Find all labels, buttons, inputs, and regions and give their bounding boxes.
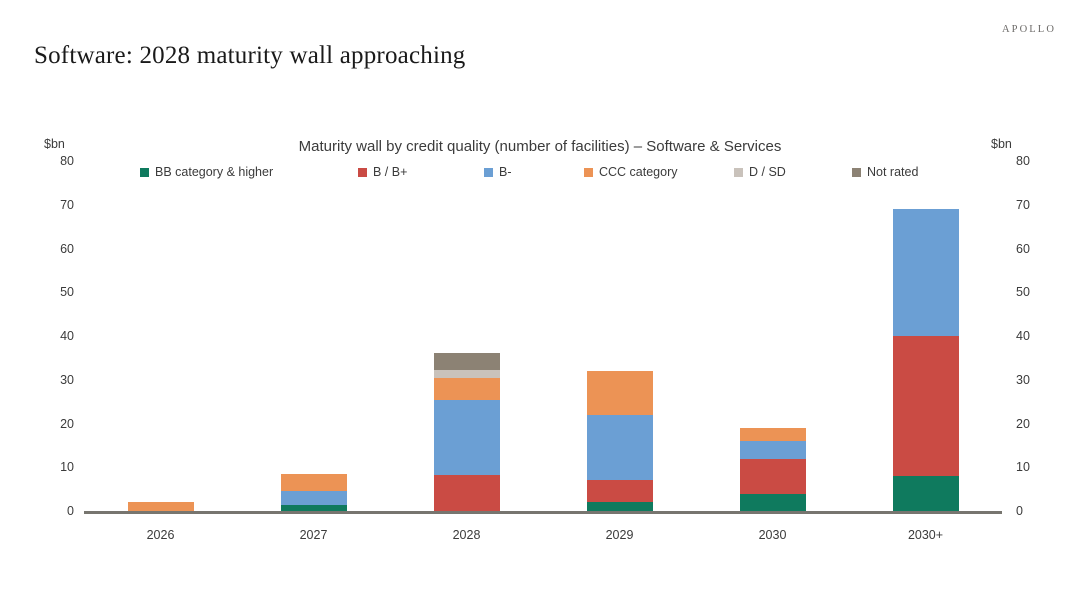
bar-stack	[587, 371, 653, 511]
bar-segment-2029-1[interactable]	[587, 480, 653, 502]
y-tick-left-0: 0	[44, 505, 74, 518]
y-tick-right-70: 70	[1016, 199, 1046, 212]
bar-2026[interactable]	[128, 130, 194, 511]
apollo-logo: APOLLO	[1002, 24, 1056, 35]
bar-segment-2026-3[interactable]	[128, 502, 194, 511]
y-tick-left-30: 30	[44, 374, 74, 387]
bar-segment-2030+-0[interactable]	[893, 476, 959, 511]
bar-stack	[281, 474, 347, 511]
slide: APOLLO Software: 2028 maturity wall appr…	[0, 0, 1080, 607]
y-tick-right-80: 80	[1016, 155, 1046, 168]
bar-segment-2030+-2[interactable]	[893, 209, 959, 336]
y-tick-right-0: 0	[1016, 505, 1046, 518]
y-tick-left-10: 10	[44, 461, 74, 474]
x-tick-2030: 2030	[713, 528, 833, 542]
y-tick-left-40: 40	[44, 330, 74, 343]
x-tick-2027: 2027	[254, 528, 374, 542]
bar-stack	[740, 428, 806, 511]
y-tick-left-20: 20	[44, 417, 74, 430]
bar-segment-2027-2[interactable]	[281, 491, 347, 505]
bar-series-container: 202620272028202920302030+	[84, 130, 1002, 560]
bar-segment-2030-0[interactable]	[740, 494, 806, 512]
bar-segment-2028-3[interactable]	[434, 378, 500, 400]
y-tick-right-10: 10	[1016, 461, 1046, 474]
y-tick-left-50: 50	[44, 286, 74, 299]
bar-segment-2030+-1[interactable]	[893, 336, 959, 476]
y-tick-right-20: 20	[1016, 417, 1046, 430]
bar-segment-2030-2[interactable]	[740, 441, 806, 459]
bar-2030[interactable]	[740, 130, 806, 511]
bar-segment-2028-2[interactable]	[434, 400, 500, 474]
page-title: Software: 2028 maturity wall approaching	[34, 42, 466, 70]
bar-segment-2029-3[interactable]	[587, 371, 653, 415]
y-tick-right-50: 50	[1016, 286, 1046, 299]
bar-segment-2028-5[interactable]	[434, 353, 500, 370]
y-tick-right-30: 30	[1016, 374, 1046, 387]
bar-segment-2027-3[interactable]	[281, 474, 347, 492]
bar-segment-2028-1[interactable]	[434, 475, 500, 511]
y-tick-left-70: 70	[44, 199, 74, 212]
y-tick-left-60: 60	[44, 242, 74, 255]
bar-2029[interactable]	[587, 130, 653, 511]
stacked-bar-chart: Maturity wall by credit quality (number …	[0, 130, 1080, 560]
y-tick-right-40: 40	[1016, 330, 1046, 343]
bar-segment-2029-0[interactable]	[587, 502, 653, 511]
y-tick-left-80: 80	[44, 155, 74, 168]
plot-area: 01020304050607080 01020304050607080 2026…	[0, 130, 1080, 560]
bar-2030+[interactable]	[893, 130, 959, 511]
x-tick-2028: 2028	[407, 528, 527, 542]
bar-segment-2030-1[interactable]	[740, 459, 806, 494]
bar-segment-2028-4[interactable]	[434, 370, 500, 379]
x-tick-2029: 2029	[560, 528, 680, 542]
bar-segment-2027-0[interactable]	[281, 505, 347, 511]
bar-segment-2029-2[interactable]	[587, 415, 653, 481]
y-tick-right-60: 60	[1016, 242, 1046, 255]
bar-segment-2030-3[interactable]	[740, 428, 806, 441]
x-tick-2030+: 2030+	[866, 528, 986, 542]
bar-stack	[434, 353, 500, 511]
x-tick-2026: 2026	[101, 528, 221, 542]
bar-stack	[128, 502, 194, 511]
bar-2027[interactable]	[281, 130, 347, 511]
bar-stack	[893, 209, 959, 511]
bar-2028[interactable]	[434, 130, 500, 511]
